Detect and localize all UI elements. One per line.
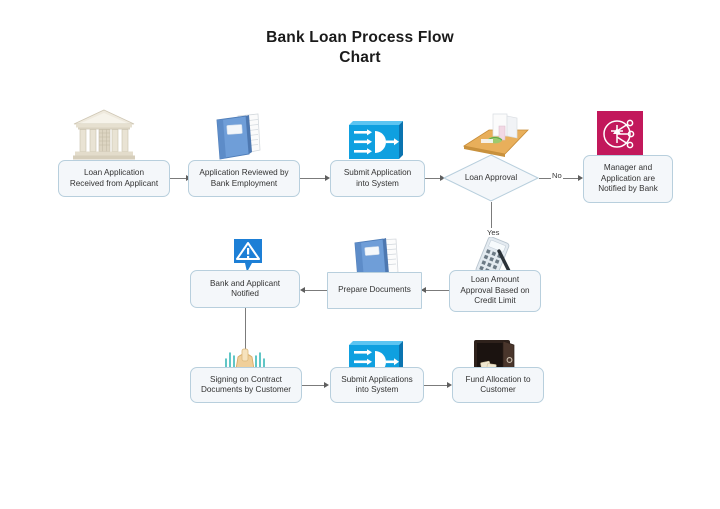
flowchart-canvas: Bank Loan Process Flow Chart No Yes: [0, 0, 720, 509]
blue-ledger-book-icon: [208, 108, 264, 164]
node-label-submit-application: Submit Applicationinto System: [344, 168, 411, 189]
node-label-loan-application-received: Loan ApplicationReceived from Applicant: [70, 168, 158, 189]
node-prepare-documents[interactable]: Prepare Documents: [327, 272, 422, 309]
process-flow-arrows-icon: [345, 117, 405, 163]
node-label-fund-allocation: Fund Allocation toCustomer: [465, 375, 530, 396]
node-label-application-reviewed: Application Reviewed byBank Employment: [199, 168, 288, 189]
node-fund-allocation[interactable]: Fund Allocation toCustomer: [452, 367, 544, 403]
node-loan-approval-decision[interactable]: Loan Approval: [443, 154, 539, 202]
edge-label-yes: Yes: [486, 228, 500, 237]
node-submit-application[interactable]: Submit Applicationinto System: [330, 160, 425, 197]
page-title: Bank Loan Process Flow Chart: [0, 28, 720, 68]
arrowhead-signing-to-submit-applications: [324, 382, 329, 388]
node-label-loan-amount-approval: Loan AmountApproval Based onCredit Limit: [460, 275, 529, 307]
network-hierarchy-icon: [597, 111, 643, 157]
connector-reviewed-to-submit: [300, 178, 328, 179]
page-title-line-1: Bank Loan Process Flow: [0, 28, 720, 48]
node-loan-application-received[interactable]: Loan ApplicationReceived from Applicant: [58, 160, 170, 197]
connector-loan-amount-to-prepare: [422, 290, 449, 291]
node-label-loan-approval: Loan Approval: [443, 173, 539, 183]
node-signing-contract[interactable]: Signing on ContractDocuments by Customer: [190, 367, 302, 403]
node-label-submit-applications: Submit Applicationsinto System: [341, 375, 412, 396]
edge-label-no: No: [551, 171, 563, 180]
arrowhead-prepare-to-notified: [300, 287, 305, 293]
bank-building-icon: [72, 108, 136, 164]
node-label-bank-applicant-notified: Bank and ApplicantNotified: [210, 279, 280, 300]
node-manager-notified[interactable]: Manager andApplication areNotified by Ba…: [583, 155, 673, 203]
node-label-signing-contract: Signing on ContractDocuments by Customer: [201, 375, 291, 396]
node-bank-applicant-notified[interactable]: Bank and ApplicantNotified: [190, 270, 300, 308]
connector-prepare-to-notified: [302, 290, 327, 291]
node-label-manager-notified: Manager andApplication areNotified by Ba…: [598, 163, 658, 195]
page-title-line-2: Chart: [0, 48, 720, 68]
node-label-prepare-documents: Prepare Documents: [338, 285, 411, 296]
node-submit-applications[interactable]: Submit Applicationsinto System: [330, 367, 424, 403]
node-application-reviewed[interactable]: Application Reviewed byBank Employment: [188, 160, 300, 197]
node-loan-amount-approval[interactable]: Loan AmountApproval Based onCredit Limit: [449, 270, 541, 312]
